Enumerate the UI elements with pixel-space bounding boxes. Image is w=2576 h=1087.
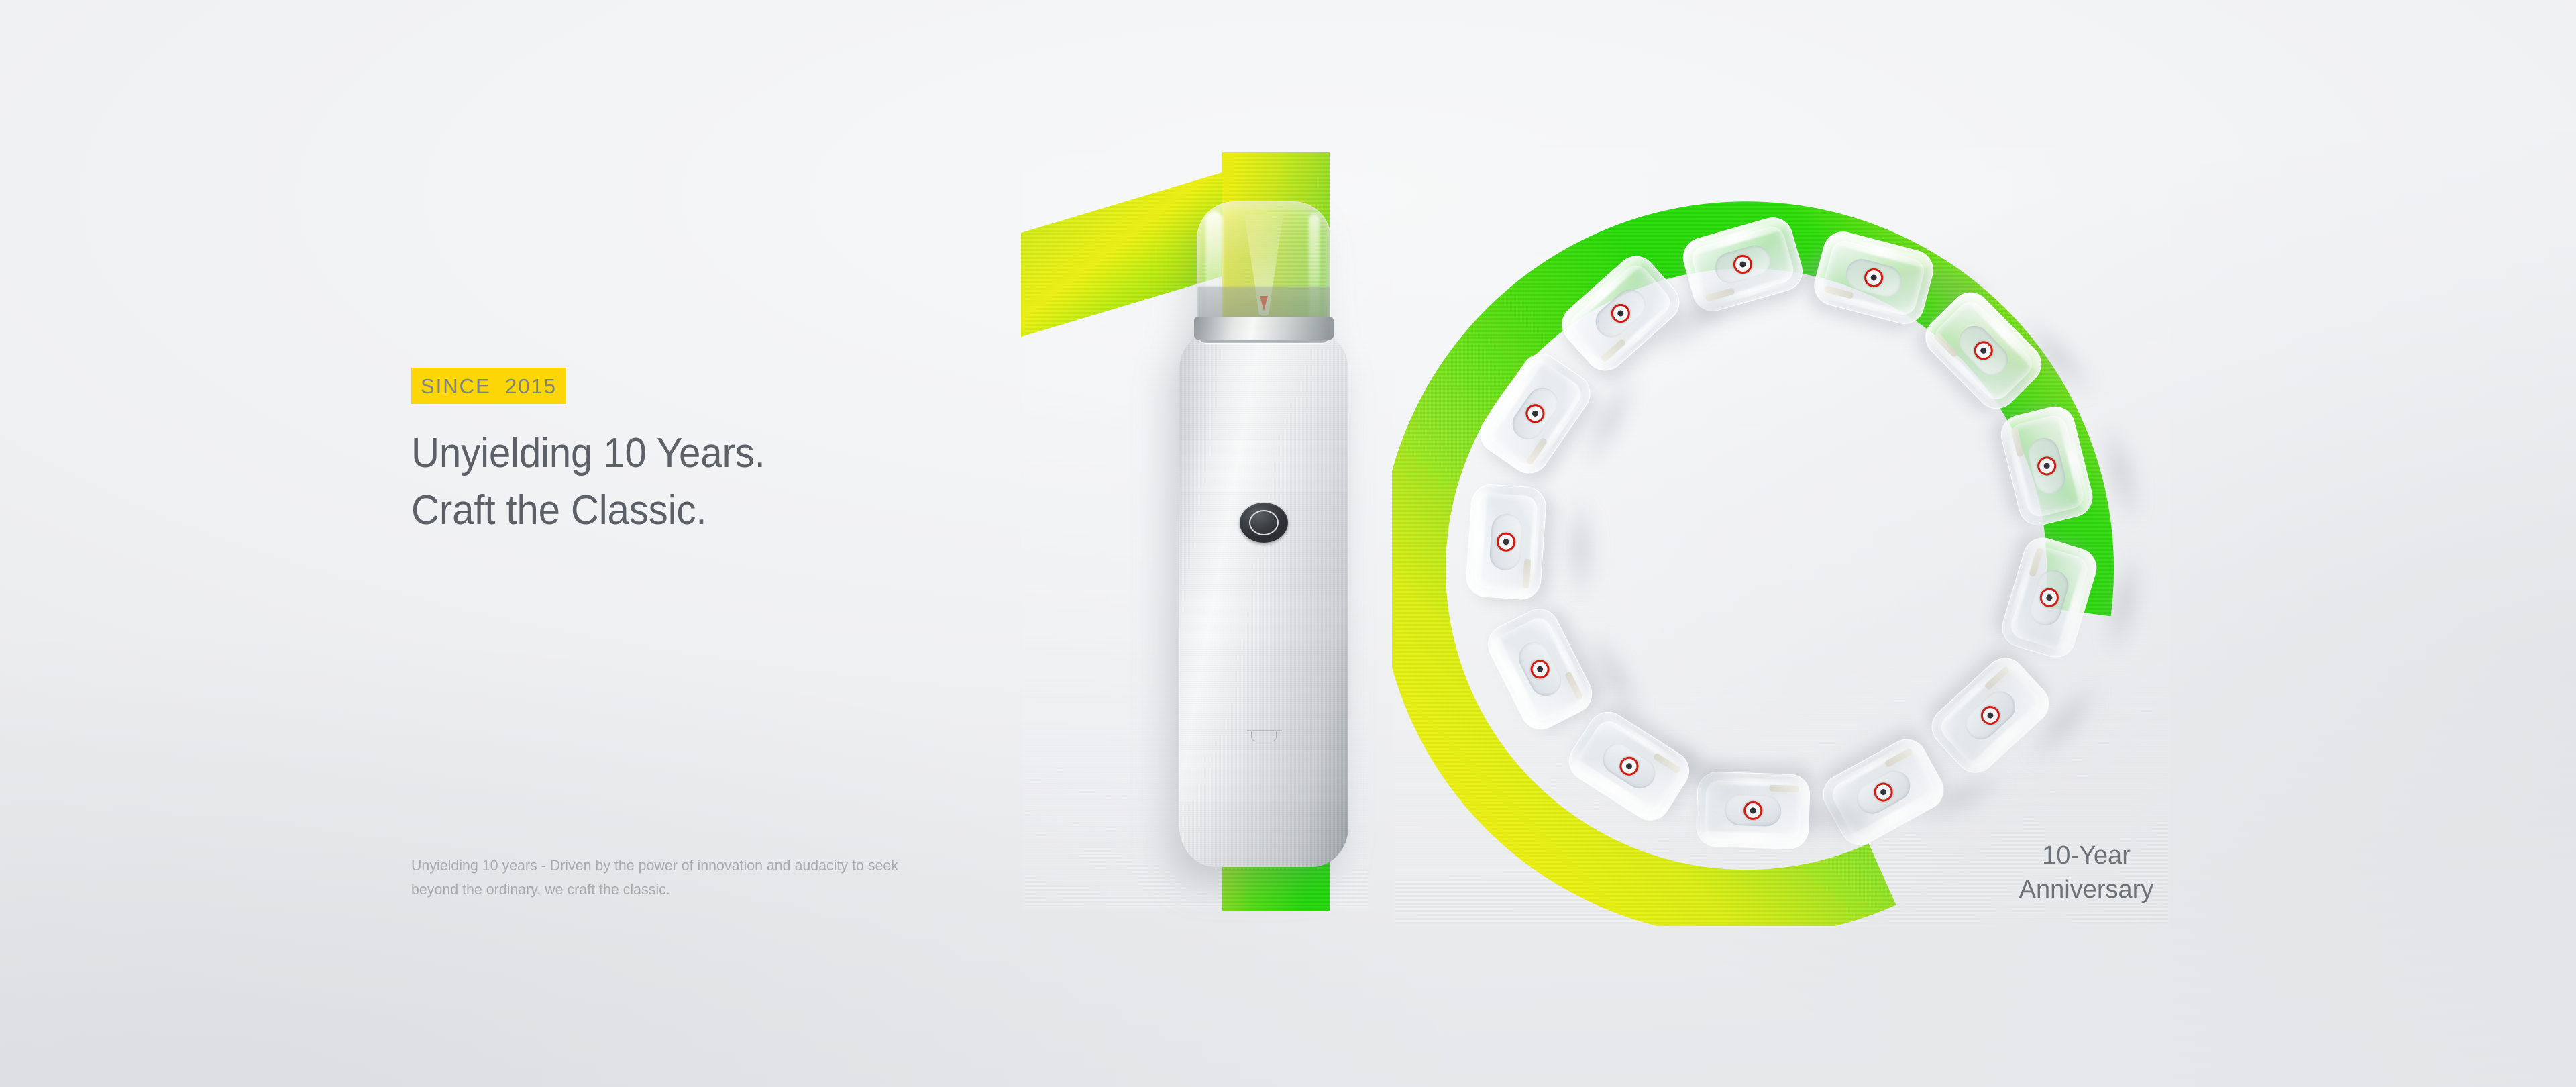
- pod-cartridge: [1810, 227, 1938, 329]
- pod-shadow: [1550, 471, 1611, 627]
- pod-cartridge: [1816, 732, 1951, 852]
- vape-pod-device: [1179, 201, 1348, 866]
- pod-cartridge: [1695, 771, 1811, 849]
- pod-cartridge: [1472, 346, 1599, 481]
- pod-cartridge: [1917, 284, 2050, 417]
- hero-banner-stage: SINCE 2015 Unyielding 10 Years. Craft th…: [0, 0, 2576, 1087]
- headline-line-2: Craft the Classic.: [411, 482, 1029, 539]
- anniversary-line-1: 10-Year: [1932, 839, 2241, 873]
- usb-c-port-icon: [1251, 731, 1277, 741]
- device-chrome-collar: [1194, 317, 1334, 340]
- pod-shadow: [2079, 523, 2169, 686]
- power-button[interactable]: [1240, 503, 1288, 543]
- pod-shadow: [2074, 391, 2169, 554]
- anniversary-line-2: Anniversary: [1932, 873, 2241, 907]
- anniversary-caption: 10-Year Anniversary: [1932, 839, 2241, 907]
- since-badge: SINCE 2015: [411, 368, 566, 404]
- pod-cartridge: [1554, 248, 1688, 378]
- pod-cartridge: [1923, 650, 2057, 781]
- pod-cartridge: [1562, 704, 1697, 828]
- pod-cartridge: [1997, 402, 2097, 529]
- page-title: Unyielding 10 Years. Craft the Classic.: [411, 425, 1029, 539]
- pod-cartridge: [1997, 533, 2102, 662]
- pod-cartridge: [1678, 213, 1807, 316]
- pod-ring-group: [1392, 148, 2170, 926]
- pod-cartridge: [1481, 602, 1599, 736]
- device-body: [1179, 330, 1348, 867]
- subcopy-paragraph: Unyielding 10 years - Driven by the powe…: [411, 853, 941, 901]
- pod-cartridge: [1464, 483, 1547, 601]
- headline-line-1: Unyielding 10 Years.: [411, 425, 1029, 482]
- copy-block: SINCE 2015 Unyielding 10 Years. Craft th…: [411, 368, 1069, 539]
